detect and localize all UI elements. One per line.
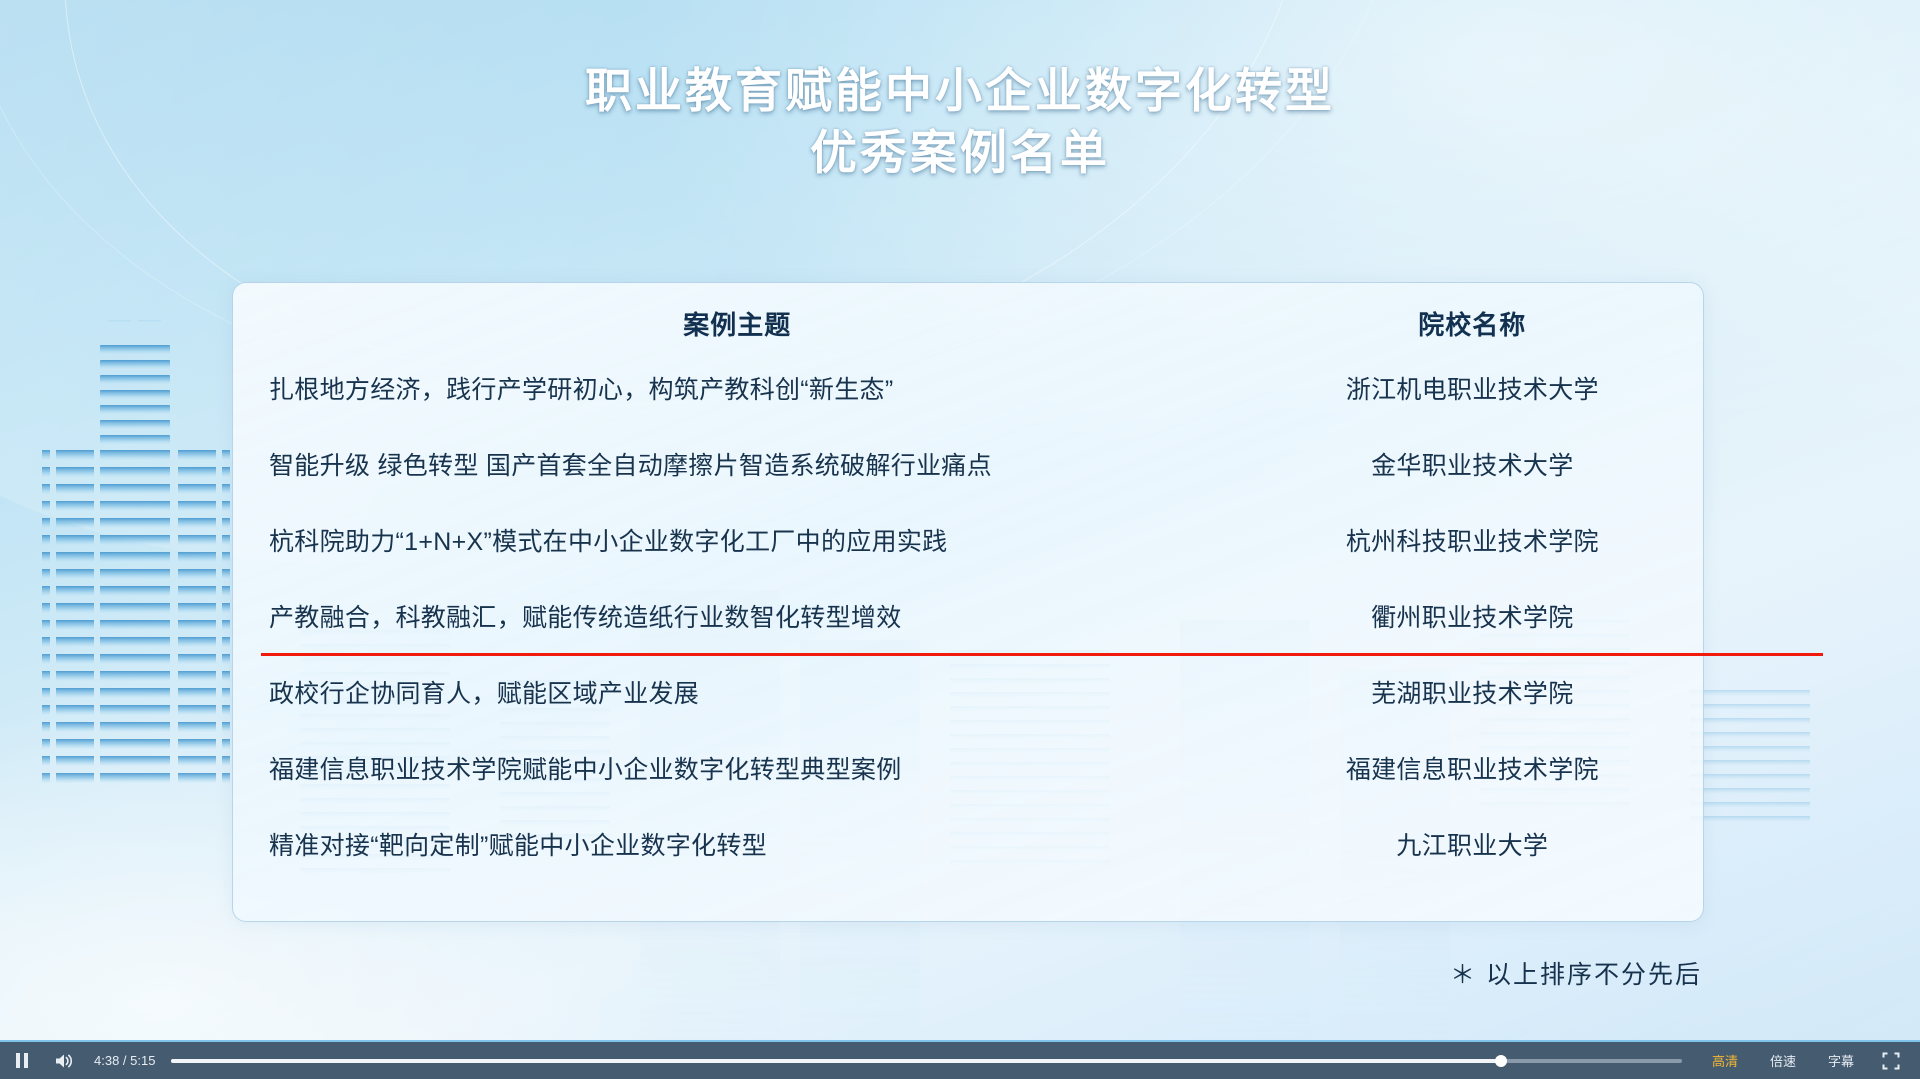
table-row: 杭科院助力“1+N+X”模式在中小企业数字化工厂中的应用实践杭州科技职业技术学院 — [233, 502, 1703, 578]
cell-school-name: 九江职业大学 — [1242, 826, 1703, 862]
cell-school-name: 金华职业技术大学 — [1242, 446, 1703, 482]
slide-title-line-2: 优秀案例名单 — [0, 122, 1920, 184]
pause-bar-right — [24, 1053, 28, 1068]
table-header-row: 案例主题 院校名称 — [233, 283, 1703, 350]
ordering-footnote: ＊ 以上排序不分先后 — [1450, 955, 1702, 991]
volume-icon[interactable] — [44, 1041, 84, 1079]
column-header-school: 院校名称 — [1242, 305, 1703, 342]
slide-title-line-1: 职业教育赋能中小企业数字化转型 — [0, 60, 1920, 122]
table-row: 智能升级 绿色转型 国产首套全自动摩擦片智造系统破解行业痛点金华职业技术大学 — [233, 426, 1703, 502]
fullscreen-icon[interactable] — [1870, 1041, 1912, 1079]
progress-filled — [171, 1059, 1500, 1063]
column-header-case: 案例主题 — [233, 305, 1242, 342]
time-display: 4:38 / 5:15 — [94, 1053, 155, 1068]
table-row: 政校行企协同育人，赋能区域产业发展芜湖职业技术学院 — [233, 654, 1703, 730]
subtitle-button[interactable]: 字幕 — [1828, 1051, 1854, 1070]
progress-handle[interactable] — [1495, 1055, 1507, 1067]
table-body: 扎根地方经济，践行产学研初心，构筑产教科创“新生态”浙江机电职业技术大学智能升级… — [233, 350, 1703, 882]
cell-case-topic: 扎根地方经济，践行产学研初心，构筑产教科创“新生态” — [233, 370, 1242, 406]
cell-case-topic: 杭科院助力“1+N+X”模式在中小企业数字化工厂中的应用实践 — [233, 522, 1242, 558]
table-row: 精准对接“靶向定制”赋能中小企业数字化转型九江职业大学 — [233, 806, 1703, 882]
speed-button[interactable]: 倍速 — [1770, 1051, 1796, 1070]
cell-case-topic: 福建信息职业技术学院赋能中小企业数字化转型典型案例 — [233, 750, 1242, 786]
table-row: 福建信息职业技术学院赋能中小企业数字化转型典型案例福建信息职业技术学院 — [233, 730, 1703, 806]
cell-school-name: 衢州职业技术学院 — [1242, 598, 1703, 634]
cell-case-topic: 政校行企协同育人，赋能区域产业发展 — [233, 674, 1242, 710]
video-player-controls: 4:38 / 5:15 高清 倍速 字幕 — [0, 1040, 1920, 1079]
table-row: 产教融合，科教融汇，赋能传统造纸行业数智化转型增效衢州职业技术学院 — [233, 578, 1703, 654]
cell-school-name: 浙江机电职业技术大学 — [1242, 370, 1703, 406]
cell-case-topic: 精准对接“靶向定制”赋能中小企业数字化转型 — [233, 826, 1242, 862]
fullscreen-glyph — [1882, 1052, 1900, 1070]
quality-button[interactable]: 高清 — [1712, 1051, 1738, 1070]
pause-icon[interactable] — [0, 1041, 44, 1079]
video-slide-canvas[interactable]: 职业教育赋能中小企业数字化转型 优秀案例名单 案例主题 院校名称 扎根地方经济，… — [0, 0, 1920, 1040]
case-list-panel: 案例主题 院校名称 扎根地方经济，践行产学研初心，构筑产教科创“新生态”浙江机电… — [232, 282, 1704, 922]
cell-school-name: 芜湖职业技术学院 — [1242, 674, 1703, 710]
table-row: 扎根地方经济，践行产学研初心，构筑产教科创“新生态”浙江机电职业技术大学 — [233, 350, 1703, 426]
volume-glyph — [54, 1052, 74, 1070]
cell-school-name: 福建信息职业技术学院 — [1242, 750, 1703, 786]
pause-bar-left — [16, 1053, 20, 1068]
cell-case-topic: 产教融合，科教融汇，赋能传统造纸行业数智化转型增效 — [233, 598, 1242, 634]
slide-title: 职业教育赋能中小企业数字化转型 优秀案例名单 — [0, 60, 1920, 184]
cell-case-topic: 智能升级 绿色转型 国产首套全自动摩擦片智造系统破解行业痛点 — [233, 446, 1242, 482]
cell-school-name: 杭州科技职业技术学院 — [1242, 522, 1703, 558]
progress-bar[interactable] — [171, 1059, 1682, 1063]
